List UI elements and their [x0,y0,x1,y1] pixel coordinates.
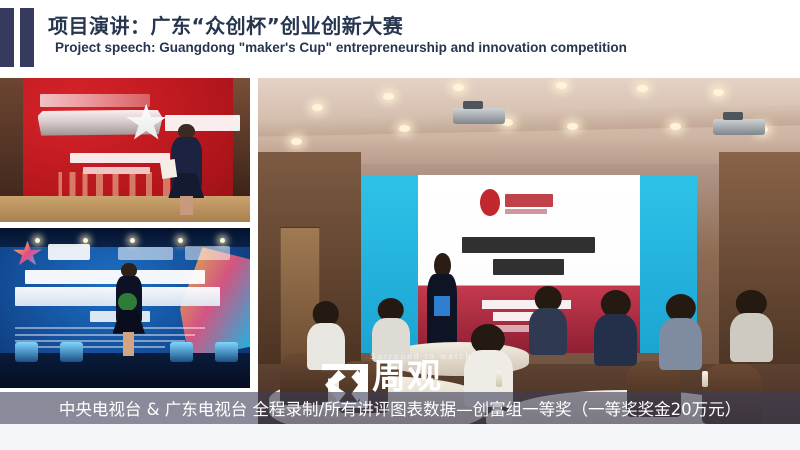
stage-light [130,238,135,243]
photo-blue-backdrop [0,228,250,388]
blue-backdrop-logo-secondary [118,247,173,260]
skyline-graphic [55,172,175,196]
slide-header: 项目演讲：广东“众创杯”创业创新大赛 Project speech: Guang… [0,0,800,76]
attendee-body [307,323,345,370]
ceiling-spotlight [567,123,578,130]
attendee [730,290,773,361]
stage-light [83,238,88,243]
blue-photo-stage-floor [0,353,250,388]
red-backdrop-slogan [70,153,170,163]
photo-red-backdrop [0,78,250,222]
attendee [372,298,410,361]
accent-bar-2 [20,8,34,67]
blue-photo-person [113,263,146,356]
person-legs [123,332,134,356]
attendee-body [529,308,567,355]
ceiling-spotlight [453,84,464,91]
stage-lamp [215,342,238,363]
stage-light [178,238,183,243]
stage-lamp [60,342,83,363]
footer-strip [0,424,800,450]
water-bottle [496,371,502,387]
accent-bars-decoration [0,8,38,67]
blue-backdrop-fineprint [15,334,195,336]
ceiling-spotlight [383,93,394,100]
slide-title-line1 [462,237,595,253]
attendee [659,294,702,368]
caption-text: 中央电视台 & 广东电视台 全程录制/所有讲评图表数据—创富组一等奖（一等奖奖金… [59,396,741,420]
attendee [307,301,345,368]
slide-brand-name [505,194,554,206]
blue-backdrop-logo-tertiary [185,246,230,260]
ceiling-spotlight [556,82,567,89]
stage-light [35,238,40,243]
stage-lamp [170,342,193,363]
blue-backdrop-fineprint [15,340,185,342]
ceiling-spotlight [670,123,681,130]
blue-backdrop-fineprint [15,327,205,329]
stage-lamp [15,342,38,363]
person-held-card [160,159,177,179]
caption-bar: 中央电视台 & 广东电视台 全程录制/所有讲评图表数据—创富组一等奖（一等奖奖金… [0,392,800,424]
ceiling-projector [713,119,765,135]
ceiling-projector [453,108,505,124]
water-bottle [421,363,427,379]
blue-backdrop-logo-zhongchuangbei [48,244,91,260]
attendee [594,290,637,364]
ceiling-spotlight [399,125,410,132]
presenter-badge [434,296,450,316]
page-title-chinese: 项目演讲：广东“众创杯”创业创新大赛 [48,10,403,39]
person-legs [180,196,194,216]
red-photo-floor [0,196,250,222]
ceiling-spotlight [291,138,302,145]
water-bottle [702,371,708,387]
slide-title-line2 [493,259,564,275]
slide-brand-subtitle [505,209,547,214]
red-backdrop-sponsor-logo [40,94,150,107]
slide-brand-logo [480,189,500,216]
attendee-body [372,318,410,362]
stage-light [220,238,225,243]
red-photo-right-wall [233,78,251,196]
attendee-body [594,314,637,366]
red-photo-left-wall [0,78,23,196]
red-photo-person [168,124,206,213]
page-title-english: Project speech: Guangdong "maker's Cup" … [55,40,627,55]
attendee-body [730,313,773,362]
slide-root: 项目演讲：广东“众创杯”创业创新大赛 Project speech: Guang… [0,0,800,450]
attendee [529,286,567,353]
accent-bar-1 [0,8,14,67]
attendee-body [659,318,702,370]
